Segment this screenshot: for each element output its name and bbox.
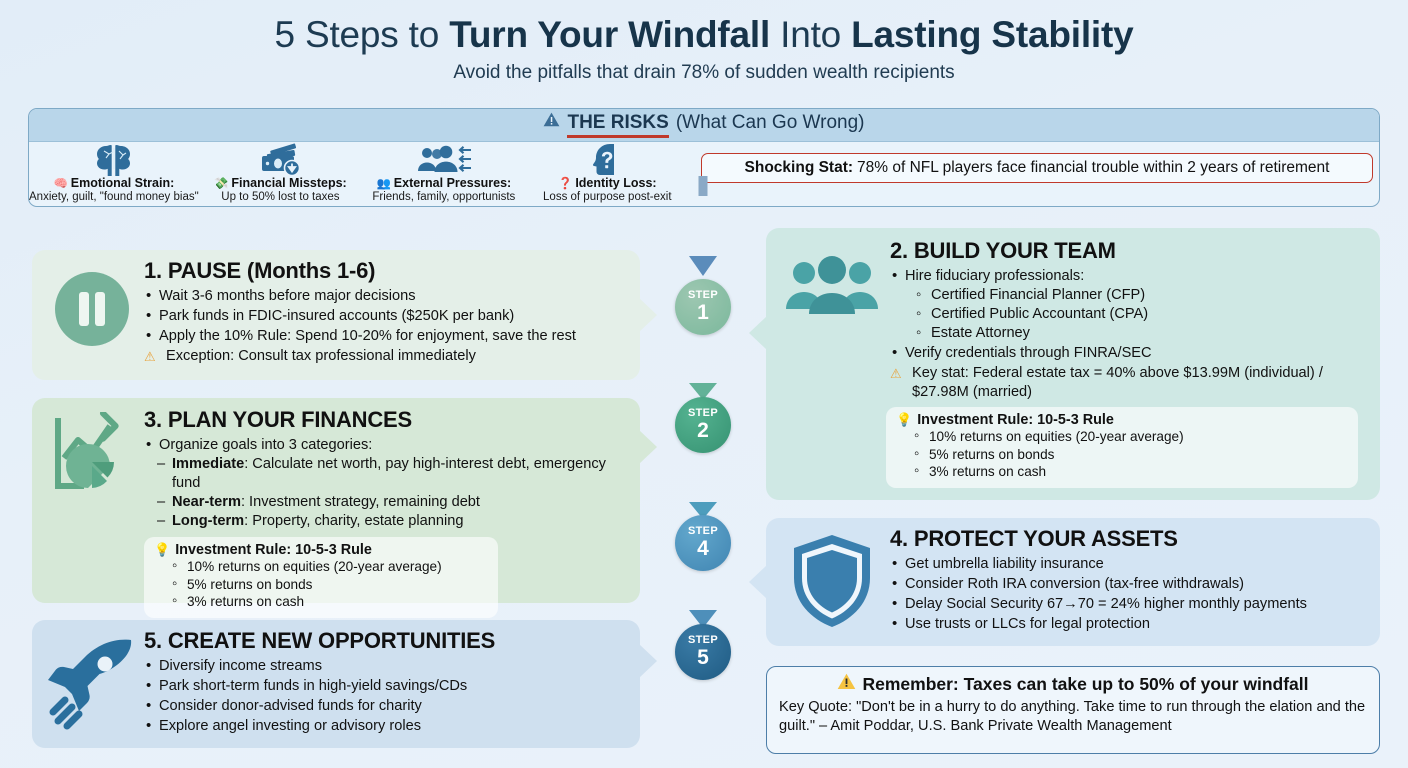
dash-text: : Investment strategy, remaining debt xyxy=(241,494,480,510)
risk-item-desc: Anxiety, guilt, "found money bias" xyxy=(29,191,199,203)
risks-header-bar: THE RISKS (What Can Go Wrong) xyxy=(29,109,1379,142)
money-down-icon xyxy=(254,143,306,176)
rule-heading-text: Investment Rule: 10-5-3 Rule xyxy=(175,542,372,558)
title-part-1: 5 Steps to xyxy=(275,14,450,55)
bullet: Delay Social Security 67→70 = 24% higher… xyxy=(890,595,1368,614)
rule-item: 10% returns on equities (20-year average… xyxy=(914,428,1348,446)
step-circle-5[interactable]: STEP 5 xyxy=(675,624,731,680)
shocking-stat-label: Shocking Stat: xyxy=(745,159,854,177)
dash-item: Immediate: Calculate net worth, pay high… xyxy=(156,455,628,493)
bullet-warning: Key stat: Federal estate tax = 40% above… xyxy=(890,364,1368,402)
rule-heading-text: Investment Rule: 10-5-3 Rule xyxy=(917,412,1114,428)
rule-item: 3% returns on cash xyxy=(172,593,488,611)
bullet: Get umbrella liability insurance xyxy=(890,555,1368,574)
card-create-opportunities-pointer xyxy=(639,644,657,678)
bullet: Verify credentials through FINRA/SEC xyxy=(890,344,1368,363)
step-circle-4[interactable]: STEP 4 xyxy=(675,515,731,571)
card-pause: 1. PAUSE (Months 1-6) Wait 3-6 months be… xyxy=(32,250,640,380)
risk-item-name: 👥 External Pressures: xyxy=(376,176,511,190)
step-label: STEP xyxy=(688,408,718,419)
shocking-stat-text: 78% of NFL players face financial troubl… xyxy=(857,159,1329,177)
sub-bullet: Estate Attorney xyxy=(916,324,1368,343)
bullet: Wait 3-6 months before major decisions xyxy=(144,287,628,306)
people-arrows-icon xyxy=(416,143,472,176)
card-protect-assets-title: 4. PROTECT YOUR ASSETS xyxy=(890,526,1368,552)
lightbulb-icon: 💡 xyxy=(896,412,912,428)
risk-name-text: Identity Loss: xyxy=(575,176,656,190)
investment-rule-box-team: 💡 Investment Rule: 10-5-3 Rule 10% retur… xyxy=(886,407,1358,488)
bullet: Apply the 10% Rule: Spend 10-20% for enj… xyxy=(144,327,628,346)
card-plan-dashlist: Immediate: Calculate net worth, pay high… xyxy=(156,455,628,531)
risk-name-text: Emotional Strain: xyxy=(71,176,174,190)
brain-icon xyxy=(92,143,136,176)
lightbulb-icon: 💡 xyxy=(154,542,170,558)
bullet: Park short-term funds in high-yield savi… xyxy=(144,677,628,696)
card-build-team-title: 2. BUILD YOUR TEAM xyxy=(890,238,1368,264)
rocket-icon xyxy=(40,626,144,748)
card-build-team: 2. BUILD YOUR TEAM Hire fiduciary profes… xyxy=(766,228,1380,500)
rule-item: 10% returns on equities (20-year average… xyxy=(172,558,488,576)
risks-title: THE RISKS xyxy=(567,112,668,138)
remember-quote: Key Quote: "Don't be in a hurry to do an… xyxy=(779,698,1367,736)
step-label: STEP xyxy=(688,635,718,646)
card-build-team-bullets-2: Verify credentials through FINRA/SEC Key… xyxy=(890,344,1368,402)
card-plan-finances: 3. PLAN YOUR FINANCES Organize goals int… xyxy=(32,398,640,603)
arrow-step1-to-step2 xyxy=(689,336,717,400)
chart-pie-growth-icon xyxy=(40,406,144,531)
page-title: 5 Steps to Turn Your Windfall Into Lasti… xyxy=(0,12,1408,58)
risk-item: 🧠 Emotional Strain: Anxiety, guilt, "fou… xyxy=(29,142,199,207)
rule-item: 3% returns on cash xyxy=(914,463,1348,481)
bullet: Hire fiduciary professionals: xyxy=(890,267,1368,286)
risk-item: 👥 External Pressures: Friends, family, o… xyxy=(362,142,525,207)
card-plan-bullets: Organize goals into 3 categories: xyxy=(144,436,628,455)
risk-item-name: ❓ Identity Loss: xyxy=(558,176,657,190)
card-build-team-sublist: Certified Financial Planner (CFP) Certif… xyxy=(916,286,1368,343)
step-number: 1 xyxy=(697,302,709,324)
risk-emoji: 👥 xyxy=(376,176,390,190)
shocking-stat-box: Shocking Stat: 78% of NFL players face f… xyxy=(701,153,1373,183)
arrow-step2-to-step4 xyxy=(689,454,717,519)
dash-label: Near-term xyxy=(172,494,241,510)
bullet: Use trusts or LLCs for legal protection xyxy=(890,615,1368,634)
card-build-team-pointer xyxy=(749,316,767,350)
warning-triangle-icon xyxy=(837,673,856,695)
risk-item-name: 🧠 Emotional Strain: xyxy=(53,176,174,190)
arrow-step4-to-step5 xyxy=(689,572,717,628)
infographic-canvas: 5 Steps to Turn Your Windfall Into Lasti… xyxy=(0,0,1408,768)
dash-item: Near-term: Investment strategy, remainin… xyxy=(156,493,628,512)
step-circle-2[interactable]: STEP 2 xyxy=(675,397,731,453)
card-protect-assets: 4. PROTECT YOUR ASSETS Get umbrella liab… xyxy=(766,518,1380,646)
dash-item: Long-term: Property, charity, estate pla… xyxy=(156,512,628,531)
rule-items: 10% returns on equities (20-year average… xyxy=(914,428,1348,481)
step-label: STEP xyxy=(688,290,718,301)
sub-bullet: Certified Financial Planner (CFP) xyxy=(916,286,1368,305)
dash-text: : Property, charity, estate planning xyxy=(244,513,463,529)
remember-headline: Remember: Taxes can take up to 50% of yo… xyxy=(779,673,1367,695)
dash-label: Long-term xyxy=(172,513,244,529)
remember-headline-text: Remember: Taxes can take up to 50% of yo… xyxy=(862,674,1308,695)
card-protect-assets-pointer xyxy=(749,565,767,599)
remember-box: Remember: Taxes can take up to 50% of yo… xyxy=(766,666,1380,754)
investment-rule-box-plan: 💡 Investment Rule: 10-5-3 Rule 10% retur… xyxy=(144,537,498,618)
rule-heading: 💡 Investment Rule: 10-5-3 Rule xyxy=(896,412,1348,428)
bullet: Consider donor-advised funds for charity xyxy=(144,697,628,716)
risk-name-text: Financial Missteps: xyxy=(231,176,346,190)
risk-name-text: External Pressures: xyxy=(394,176,511,190)
question-head-icon xyxy=(590,143,624,176)
page-subtitle: Avoid the pitfalls that drain 78% of sud… xyxy=(0,62,1408,84)
bullet: Park funds in FDIC-insured accounts ($25… xyxy=(144,307,628,326)
dash-label: Immediate xyxy=(172,456,244,472)
card-build-team-bullets: Hire fiduciary professionals: xyxy=(890,267,1368,286)
risk-item-desc: Up to 50% lost to taxes xyxy=(221,191,339,203)
title-part-2: Turn Your Windfall xyxy=(449,14,770,55)
card-create-opportunities-title: 5. CREATE NEW OPPORTUNITIES xyxy=(144,628,628,654)
rule-items: 10% returns on equities (20-year average… xyxy=(172,558,488,611)
risk-emoji: ❓ xyxy=(558,176,572,190)
risk-item-desc: Friends, family, opportunists xyxy=(372,191,515,203)
bullet-warning: Exception: Consult tax professional imme… xyxy=(144,347,628,366)
bullet: Diversify income streams xyxy=(144,657,628,676)
step-circle-1[interactable]: STEP 1 xyxy=(675,279,731,335)
title-part-3: Into xyxy=(770,14,851,55)
card-create-bullets: Diversify income streams Park short-term… xyxy=(144,657,628,736)
card-protect-bullets: Get umbrella liability insurance Conside… xyxy=(890,555,1368,634)
rule-item: 5% returns on bonds xyxy=(172,576,488,594)
risks-panel: THE RISKS (What Can Go Wrong) 🧠 xyxy=(28,108,1380,207)
risk-item-desc: Loss of purpose post-exit xyxy=(543,191,672,203)
card-create-opportunities: 5. CREATE NEW OPPORTUNITIES Diversify in… xyxy=(32,620,640,748)
bullet: Consider Roth IRA conversion (tax-free w… xyxy=(890,575,1368,594)
bullet: Organize goals into 3 categories: xyxy=(144,436,628,455)
sub-bullet: Certified Public Accountant (CPA) xyxy=(916,305,1368,324)
people-group-icon xyxy=(774,236,890,402)
risk-items-list: 🧠 Emotional Strain: Anxiety, guilt, "fou… xyxy=(29,142,689,207)
risk-emoji: 💸 xyxy=(214,176,228,190)
rule-heading: 💡 Investment Rule: 10-5-3 Rule xyxy=(154,542,488,558)
warning-triangle-icon xyxy=(543,112,560,131)
card-pause-pointer xyxy=(639,298,657,332)
bullet: Explore angel investing or advisory role… xyxy=(144,717,628,736)
step-number: 4 xyxy=(697,538,709,560)
title-part-4: Lasting Stability xyxy=(851,14,1133,55)
card-plan-finances-pointer xyxy=(639,430,657,464)
step-label: STEP xyxy=(688,526,718,537)
risk-item: 💸 Financial Missteps: Up to 50% lost to … xyxy=(199,142,362,207)
rule-item: 5% returns on bonds xyxy=(914,446,1348,464)
step-number: 2 xyxy=(697,420,709,442)
risk-item: ❓ Identity Loss: Loss of purpose post-ex… xyxy=(526,142,689,207)
card-pause-title: 1. PAUSE (Months 1-6) xyxy=(144,258,628,284)
risk-item-name: 💸 Financial Missteps: xyxy=(214,176,347,190)
card-plan-finances-title: 3. PLAN YOUR FINANCES xyxy=(144,407,628,433)
pause-circle-icon xyxy=(40,258,144,380)
risk-emoji: 🧠 xyxy=(53,176,67,190)
card-pause-bullets: Wait 3-6 months before major decisions P… xyxy=(144,287,628,366)
risks-subtitle: (What Can Go Wrong) xyxy=(676,112,865,134)
shield-icon xyxy=(774,524,890,646)
step-number: 5 xyxy=(697,647,709,669)
